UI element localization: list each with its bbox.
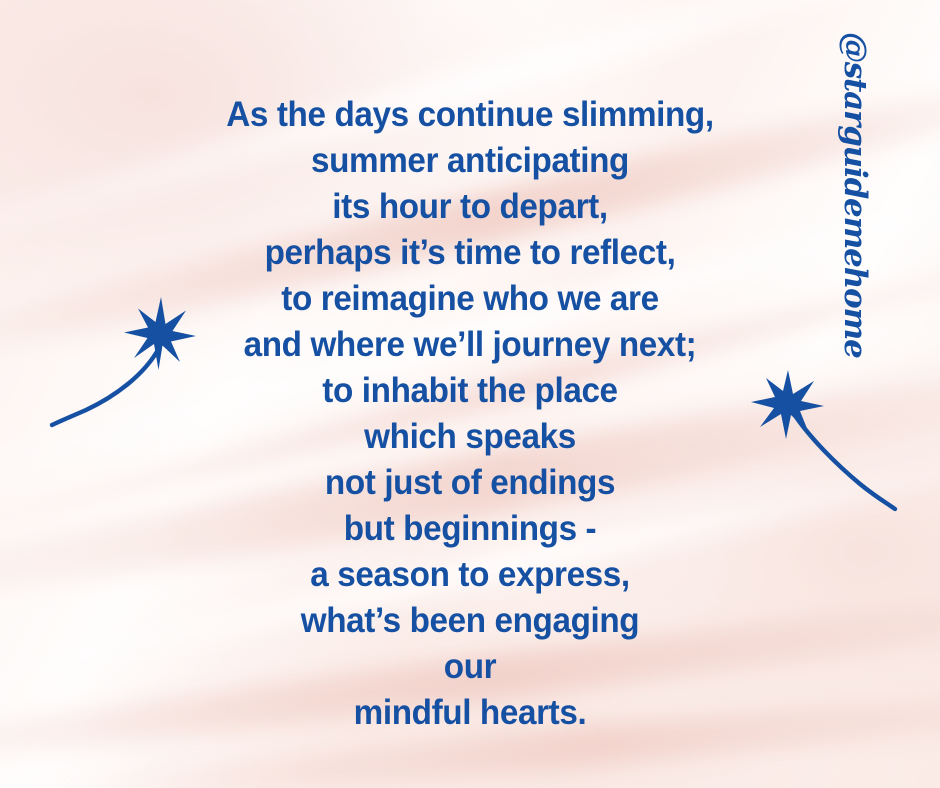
poem-line: which speaks [24,414,917,460]
poem-line: As the days continue slimming, [24,92,917,138]
social-handle-watermark: @starguidemehome [837,32,873,304]
poem-line: and where we’ll journey next; [24,322,917,368]
poem-line: what’s been engaging [24,598,917,644]
poem-line: not just of endings [24,460,917,506]
poem-line: its hour to depart, [24,184,917,230]
poem-line: but beginnings - [24,506,917,552]
poem-text: As the days continue slimming, summer an… [24,92,917,736]
poem-line: mindful hearts. [24,690,917,736]
poem-line: to reimagine who we are [24,276,917,322]
poem-line: summer anticipating [24,138,917,184]
poem-line: perhaps it’s time to reflect, [24,230,917,276]
poem-line: a season to express, [24,552,917,598]
poem-line: to inhabit the place [24,368,917,414]
poem-line: our [24,644,917,690]
poem-poster: As the days continue slimming, summer an… [0,0,940,788]
